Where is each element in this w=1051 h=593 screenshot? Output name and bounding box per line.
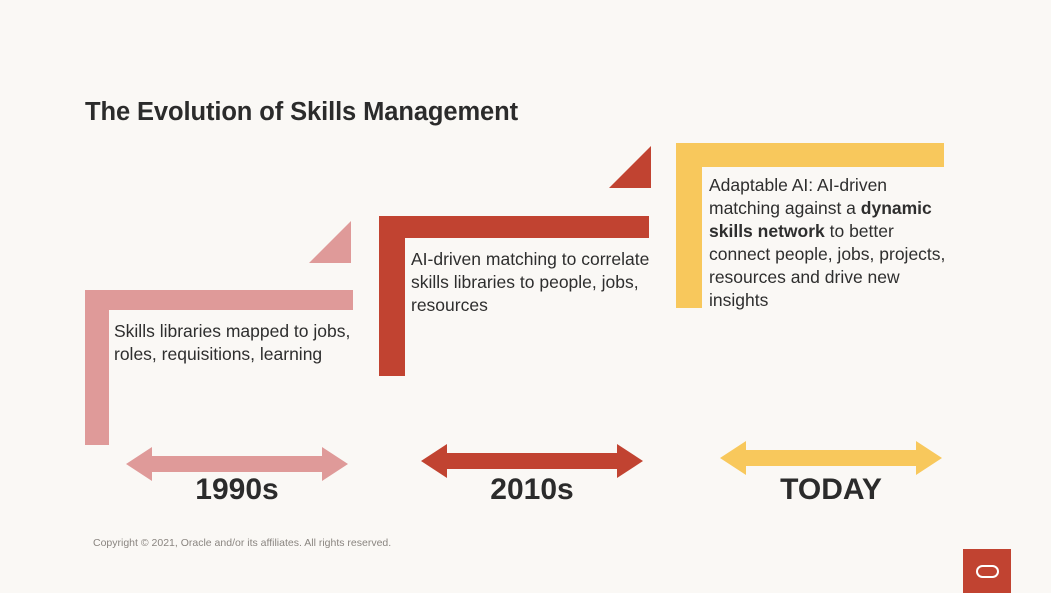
bracket-left-2010s <box>379 216 405 376</box>
bracket-top-2010s <box>379 216 649 238</box>
accent-triangle-2010s <box>609 146 651 188</box>
page-title: The Evolution of Skills Management <box>85 98 518 127</box>
segment-text-2010s-part1: AI-driven matching to correlate skills l… <box>411 249 649 315</box>
era-label-1990s: 1990s <box>126 473 348 507</box>
segment-text-1990s-part1: Skills libraries mapped to jobs, roles, … <box>114 321 350 364</box>
era-label-2010s: 2010s <box>421 473 643 507</box>
slide-canvas: The Evolution of Skills Management Skill… <box>0 0 1051 593</box>
arrow-today <box>720 441 942 475</box>
era-label-today: TODAY <box>720 473 942 507</box>
bracket-left-1990s <box>85 290 109 445</box>
segment-text-1990s: Skills libraries mapped to jobs, roles, … <box>114 320 364 366</box>
oracle-logo <box>963 549 1011 593</box>
copyright-text: Copyright © 2021, Oracle and/or its affi… <box>93 537 391 549</box>
oracle-oval-icon <box>976 565 999 578</box>
accent-triangle-1990s <box>309 221 351 263</box>
bracket-top-today <box>676 143 944 167</box>
bracket-top-1990s <box>85 290 353 310</box>
bracket-left-today <box>676 143 702 308</box>
segment-text-2010s: AI-driven matching to correlate skills l… <box>411 248 663 317</box>
segment-text-today: Adaptable AI: AI-driven matching against… <box>709 174 951 313</box>
